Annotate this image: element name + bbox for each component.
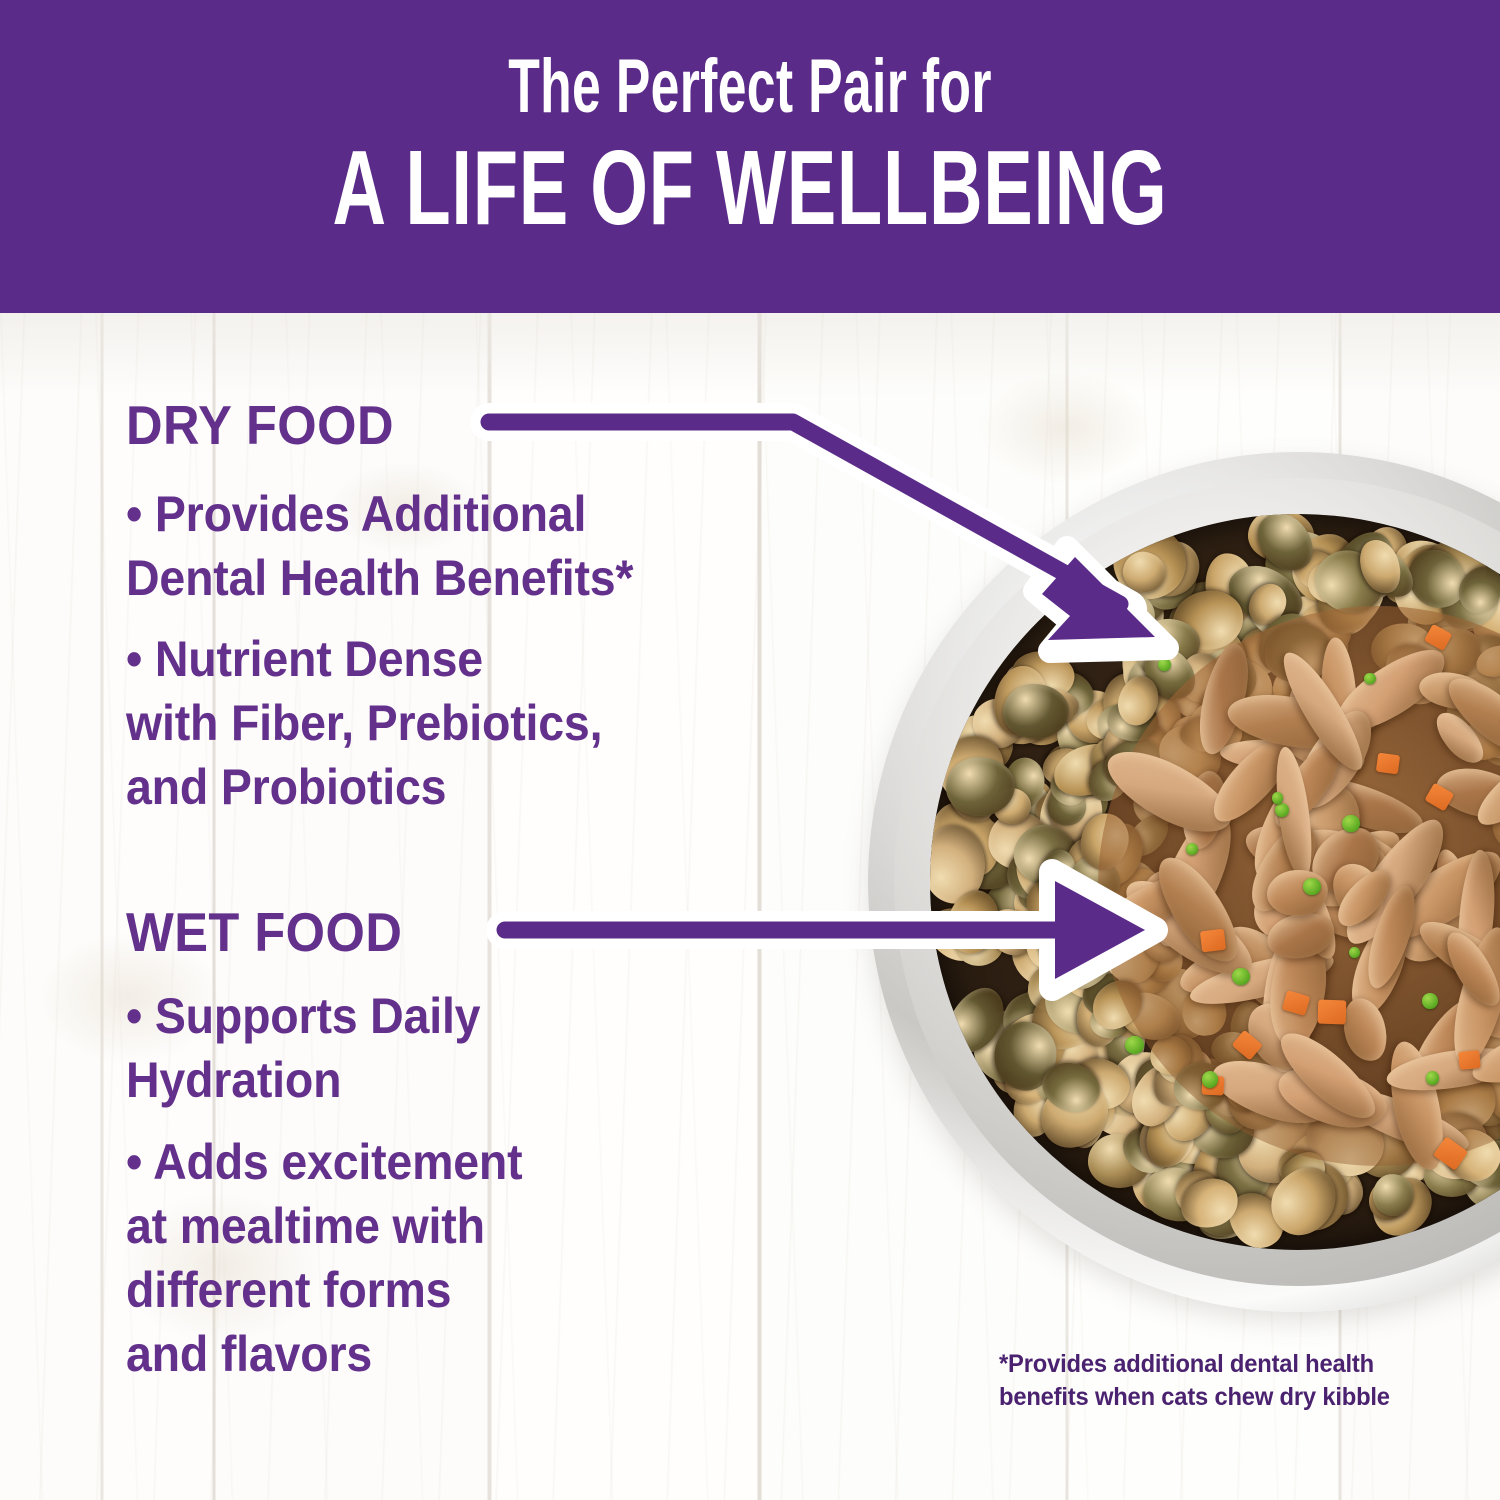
kibble-piece — [1210, 1159, 1287, 1234]
kibble-piece — [1107, 1047, 1185, 1118]
wet-food-chunk — [1202, 728, 1302, 833]
kibble-piece — [1069, 1015, 1142, 1097]
kibble-piece — [1064, 919, 1120, 961]
kibble-piece — [1340, 545, 1401, 601]
kibble-piece — [1296, 1094, 1395, 1188]
wet-food-chunk — [1279, 674, 1346, 805]
kibble-piece — [1306, 541, 1393, 623]
kibble-piece — [1190, 1176, 1253, 1239]
kibble-piece — [1476, 1082, 1500, 1160]
kibble-piece — [1006, 815, 1085, 893]
wet-food-chunk — [1257, 929, 1322, 1075]
kibble-piece — [1038, 743, 1090, 790]
pea-piece — [1186, 843, 1198, 855]
kibble-piece — [998, 655, 1048, 705]
kibble-piece — [1081, 971, 1140, 1021]
kibble-piece — [1064, 1051, 1137, 1117]
kibble-piece — [1437, 1122, 1500, 1190]
bullet-line: and Probiotics — [126, 755, 602, 819]
kibble-piece — [1469, 580, 1500, 654]
kibble-piece — [1000, 671, 1084, 756]
wet-food-chunk — [1432, 761, 1500, 823]
wet-food-chunk — [1130, 857, 1220, 944]
kibble-piece — [930, 898, 995, 970]
wet-food-chunk — [1248, 686, 1374, 787]
kibble-piece — [1189, 702, 1245, 752]
kibble-piece — [1273, 1144, 1333, 1202]
kibble-piece — [1062, 743, 1122, 805]
kibble-piece — [1273, 1103, 1361, 1180]
kibble-piece — [941, 884, 1006, 959]
carrot-piece — [1282, 990, 1310, 1016]
kibble-piece — [1075, 809, 1134, 875]
kibble-piece — [1432, 566, 1500, 640]
kibble-piece — [988, 661, 1053, 741]
kibble-piece — [1189, 639, 1266, 716]
kibble-piece — [1003, 846, 1061, 904]
kibble-piece — [1497, 1107, 1500, 1179]
kibble-piece — [1113, 670, 1164, 729]
header-eyebrow: The Perfect Pair for — [240, 46, 1260, 128]
kibble-piece — [1087, 1132, 1152, 1189]
bullet-line: Hydration — [126, 1048, 480, 1112]
kibble-piece — [1209, 655, 1277, 723]
kibble-piece — [1150, 1030, 1208, 1089]
kibble-piece — [936, 903, 998, 963]
bullet-line: • Provides Additional — [126, 482, 633, 546]
kibble-piece — [1132, 956, 1228, 1053]
kibble-piece — [1371, 1172, 1416, 1218]
kibble-piece — [1277, 590, 1338, 651]
kibble-piece — [1411, 1052, 1483, 1125]
kibble-piece — [1106, 862, 1175, 938]
kibble-piece — [1147, 1137, 1216, 1183]
footnote-line: *Provides additional dental health — [999, 1348, 1390, 1381]
wet-food-chunk — [1299, 831, 1418, 939]
kibble-piece — [1362, 1170, 1418, 1228]
kibble-piece — [1027, 915, 1080, 974]
kibble-piece — [1281, 1122, 1348, 1190]
wet-food-bullet-1: • Supports Daily Hydration — [126, 984, 480, 1112]
wet-food-chunk — [1336, 824, 1404, 874]
kibble-piece — [1248, 579, 1310, 639]
wet-food-chunk — [1293, 860, 1424, 925]
kibble-piece — [1150, 1035, 1193, 1076]
kibble-piece — [1130, 539, 1207, 619]
kibble-piece — [1057, 962, 1123, 1027]
pea-piece — [1083, 930, 1100, 947]
kibble-piece — [1258, 1154, 1348, 1247]
kibble-piece — [1471, 689, 1500, 780]
kibble-piece — [1049, 753, 1112, 806]
kibble-piece — [1233, 1033, 1292, 1092]
kibble-piece — [1217, 1182, 1293, 1250]
wet-food-chunk — [1206, 1049, 1339, 1135]
wet-food-chunk — [1143, 846, 1251, 974]
kibble-piece — [1122, 644, 1198, 709]
kibble-piece — [1191, 603, 1263, 681]
kibble-piece — [1170, 1058, 1231, 1113]
page-title: A LIFE OF WELLBEING — [225, 132, 1275, 244]
kibble-piece — [1357, 1108, 1427, 1177]
kibble-piece — [1485, 1099, 1500, 1182]
kibble-piece — [1018, 913, 1083, 979]
kibble-piece — [1353, 534, 1407, 599]
kibble-piece — [1286, 543, 1348, 599]
wet-food-chunk — [1207, 912, 1328, 1033]
kibble-piece — [982, 857, 1059, 938]
kibble-piece — [1307, 561, 1353, 605]
kibble-piece — [1129, 910, 1189, 967]
kibble-piece — [1096, 729, 1171, 799]
kibble-piece — [1025, 893, 1087, 953]
bullet-line: and flavors — [126, 1322, 522, 1386]
wet-food-chunk — [1428, 705, 1491, 771]
pea-piece — [1349, 947, 1360, 958]
kibble-piece — [1040, 667, 1080, 719]
kibble-piece — [1013, 871, 1060, 916]
kibble-piece — [1215, 1136, 1273, 1205]
kibble-piece — [1305, 1137, 1362, 1195]
carrot-piece — [1424, 782, 1454, 810]
kibble-piece — [1056, 1008, 1112, 1065]
kibble-piece — [1065, 687, 1125, 746]
wet-food-chunk — [1224, 687, 1356, 756]
kibble-piece — [1272, 669, 1308, 707]
pea-piece — [1202, 1071, 1218, 1087]
kibble-piece — [1061, 847, 1129, 913]
kibble-piece — [1313, 1164, 1369, 1221]
dry-food-bullet-1: • Provides Additional Dental Health Bene… — [126, 482, 633, 610]
kibble-piece — [1196, 684, 1243, 732]
wet-food-chunk — [1235, 991, 1322, 1081]
kibble-piece — [1039, 954, 1125, 1040]
kibble-piece — [968, 859, 1051, 949]
kibble-piece — [1276, 619, 1334, 685]
pea-piece — [1364, 673, 1375, 684]
kibble-piece — [1096, 715, 1158, 775]
kibble-piece — [1473, 640, 1500, 681]
kibble-piece — [1126, 748, 1186, 802]
kibble-piece — [992, 786, 1032, 825]
kibble-piece — [1097, 876, 1187, 970]
kibble-piece — [1143, 660, 1202, 718]
kibble-piece — [1223, 1065, 1266, 1113]
wet-food-chunk — [1327, 1077, 1475, 1164]
kibble-piece — [1493, 1101, 1500, 1172]
kibble-piece — [1122, 1057, 1190, 1134]
wet-food-chunk — [1265, 789, 1324, 881]
kibble-piece — [986, 1000, 1080, 1095]
kibble-piece — [1187, 1136, 1230, 1179]
kibble-piece — [1174, 1053, 1242, 1139]
wet-food-chunk — [1173, 916, 1327, 1008]
kibble-piece — [1009, 1044, 1101, 1137]
kibble-piece — [1147, 1154, 1205, 1220]
kibble-piece — [1016, 943, 1096, 1030]
wet-food-chunk — [1326, 636, 1457, 746]
kibble-piece — [1174, 1171, 1245, 1235]
kibble-piece — [1003, 756, 1047, 810]
kibble-piece — [1063, 1086, 1109, 1150]
kibble-piece — [946, 756, 1016, 816]
kibble-piece — [1047, 915, 1126, 999]
kibble-piece — [1116, 626, 1179, 703]
wet-food-chunk — [1294, 767, 1428, 845]
kibble-piece — [992, 980, 1069, 1055]
kibble-piece — [1434, 1069, 1478, 1116]
kibble-piece — [1046, 999, 1109, 1074]
kibble-piece — [1008, 648, 1077, 703]
kibble-piece — [1308, 1081, 1376, 1155]
wet-food-chunk — [1239, 814, 1327, 921]
kibble-piece — [1170, 615, 1256, 694]
kibble-piece — [1493, 749, 1500, 839]
wet-food-chunk — [1238, 812, 1382, 904]
wet-food-chunk — [1454, 849, 1499, 988]
kibble-piece — [987, 874, 1052, 932]
wet-food-chunk — [1096, 737, 1242, 849]
kibble-piece — [1040, 663, 1101, 722]
kibble-piece — [1101, 920, 1167, 988]
kibble-piece — [1139, 644, 1203, 710]
kibble-piece — [1428, 641, 1500, 722]
kibble-piece — [1178, 623, 1245, 695]
kibble-piece — [1230, 678, 1303, 759]
kibble-piece — [1084, 816, 1152, 893]
wet-food-chunk — [1284, 700, 1385, 819]
kibble-piece — [1303, 1140, 1357, 1193]
kibble-piece — [1043, 1031, 1114, 1107]
kibble-piece — [1233, 1110, 1318, 1189]
kibble-piece — [1143, 1038, 1223, 1117]
footnote-disclaimer: *Provides additional dental health benef… — [999, 1348, 1390, 1414]
kibble-piece — [1280, 604, 1358, 679]
kibble-piece — [1232, 681, 1271, 723]
kibble-piece — [1090, 1074, 1153, 1138]
kibble-piece — [1130, 688, 1185, 746]
kibble-piece — [1080, 751, 1137, 809]
wet-food-chunk — [1443, 922, 1500, 1071]
kibble-piece — [1202, 550, 1259, 626]
kibble-piece — [1126, 661, 1196, 729]
kibble-piece — [1132, 776, 1182, 828]
kibble-piece — [1281, 557, 1368, 639]
wet-food-chunk — [1438, 666, 1500, 766]
kibble-piece — [1166, 670, 1220, 725]
kibble-piece — [1041, 894, 1112, 966]
wet-food-chunk — [1317, 637, 1360, 763]
kibble-piece — [1100, 924, 1140, 965]
carrot-piece — [1458, 1050, 1480, 1070]
kibble-piece — [1475, 1057, 1500, 1134]
section-heading-dry-food: DRY FOOD — [126, 396, 394, 454]
kibble-piece — [1137, 650, 1189, 716]
kibble-piece — [1115, 1118, 1180, 1180]
kibble-piece — [1454, 711, 1500, 768]
kibble-piece — [1040, 1061, 1121, 1137]
kibble-piece — [1124, 1048, 1203, 1129]
kibble-piece — [930, 823, 987, 906]
kibble-piece — [1444, 692, 1500, 767]
kibble-piece — [1221, 1094, 1290, 1157]
kibble-piece — [1056, 1094, 1110, 1147]
kibble-piece — [1040, 927, 1099, 973]
kibble-piece — [1142, 1105, 1196, 1172]
kibble-piece — [1046, 772, 1107, 851]
kibble-piece — [1147, 713, 1232, 797]
kibble-piece — [1268, 1110, 1366, 1206]
kibble-piece — [1292, 599, 1356, 661]
kibble-piece — [940, 817, 1029, 896]
kibble-piece — [1424, 1155, 1480, 1197]
kibble-piece — [1375, 1117, 1448, 1194]
wet-food-bullet-2: • Adds excitement at mealtime with diffe… — [126, 1130, 522, 1386]
kibble-piece — [1386, 539, 1468, 631]
kibble-piece — [1460, 1143, 1500, 1190]
kibble-piece — [1005, 1015, 1074, 1095]
kibble-piece — [1045, 761, 1119, 836]
kibble-piece — [988, 811, 1050, 870]
kibble-piece — [1111, 714, 1175, 777]
pea-piece — [1342, 815, 1360, 833]
kibble-piece — [1062, 742, 1124, 800]
kibble-piece — [1082, 725, 1151, 794]
section-heading-wet-food: WET FOOD — [126, 903, 402, 961]
kibble-piece — [1138, 1046, 1221, 1128]
kibble-piece — [1104, 1013, 1146, 1076]
kibble-piece — [1469, 580, 1500, 663]
kibble-piece — [1100, 589, 1156, 643]
kibble-piece — [1100, 916, 1163, 986]
kibble-piece — [1018, 953, 1087, 1020]
kibble-piece — [1483, 929, 1500, 1016]
kibble-piece — [1402, 579, 1474, 663]
kibble-piece — [1260, 619, 1335, 687]
kibble-piece — [1235, 626, 1286, 679]
wet-food-chunk — [1390, 894, 1474, 972]
kibble-piece — [1413, 1103, 1498, 1188]
wet-food-chunk — [1243, 867, 1328, 950]
kibble-piece — [1465, 967, 1500, 1055]
kibble-piece — [1492, 1075, 1500, 1143]
kibble-piece — [1009, 772, 1062, 827]
carrot-piece — [1231, 1030, 1262, 1061]
wet-food-chunk — [1332, 807, 1459, 956]
kibble-piece — [941, 901, 1016, 976]
pea-piece — [1125, 1036, 1144, 1055]
wet-food-chunk — [1220, 737, 1343, 774]
kibble-piece — [1374, 633, 1455, 715]
kibble-piece — [1495, 1102, 1500, 1148]
carrot-piece — [1200, 929, 1226, 952]
food-bowl-photo — [868, 452, 1500, 1312]
kibble-piece — [1086, 697, 1129, 740]
kibble-piece — [1154, 1078, 1225, 1150]
kibble-piece — [978, 899, 1043, 964]
wet-food-chunk — [1437, 925, 1500, 1014]
kibble-piece — [1206, 1133, 1298, 1225]
kibble-piece — [1248, 604, 1323, 683]
wet-food-chunk — [1270, 745, 1318, 881]
bullet-line: at mealtime with — [126, 1194, 522, 1258]
kibble-piece — [1269, 1139, 1331, 1201]
kibble-piece — [1165, 711, 1225, 776]
kibble-piece — [1005, 1064, 1052, 1105]
kibble-piece — [1167, 1163, 1227, 1223]
kibble-piece — [1053, 730, 1121, 799]
wet-food-chunk — [1265, 867, 1330, 919]
kibble-piece — [1159, 1125, 1218, 1167]
kibble-piece — [1305, 546, 1398, 646]
kibble-piece — [1119, 548, 1169, 596]
dry-food-bullet-2: • Nutrient Dense with Fiber, Prebiotics,… — [126, 627, 602, 819]
wet-food-chunk — [1191, 639, 1257, 759]
kibble-piece — [1000, 1024, 1046, 1070]
kibble-piece — [1349, 537, 1422, 608]
wet-food-chunk — [1185, 943, 1337, 1014]
kibble-piece — [1156, 589, 1237, 675]
kibble-piece — [993, 1020, 1058, 1091]
kibble-piece — [1098, 1079, 1164, 1147]
kibble-piece — [1420, 567, 1467, 618]
kibble-piece — [1018, 971, 1113, 1063]
kibble-piece — [1034, 846, 1081, 904]
kibble-piece — [1026, 1039, 1100, 1115]
kibble-piece — [1037, 680, 1084, 722]
kibble-piece — [1089, 1062, 1173, 1147]
kibble-piece — [1270, 1116, 1356, 1196]
pea-piece — [1158, 658, 1171, 671]
kibble-piece — [1050, 709, 1105, 770]
kibble-piece — [1119, 626, 1167, 691]
pea-piece — [1426, 1071, 1440, 1085]
kibble-piece — [1443, 671, 1500, 754]
kibble-piece — [1209, 1029, 1254, 1067]
kibble-piece — [1444, 661, 1500, 725]
kibble-piece — [1293, 1148, 1352, 1216]
kibble-piece — [1396, 1082, 1465, 1149]
kibble-piece — [1072, 981, 1121, 1030]
kibble-piece — [1311, 1157, 1372, 1219]
kibble-piece — [1008, 870, 1076, 935]
wet-food-chunk — [1329, 862, 1399, 935]
wet-food-chunk — [1411, 910, 1500, 1005]
kibble-piece — [1028, 1066, 1122, 1161]
wet-food-chunk — [1466, 1006, 1500, 1095]
kibble-piece — [1220, 1168, 1267, 1228]
wet-food-chunk — [1372, 836, 1500, 954]
kibble-piece — [1168, 585, 1249, 656]
kibble-piece — [1426, 1062, 1500, 1139]
pea-piece — [1303, 878, 1321, 896]
kibble-piece — [1280, 522, 1369, 613]
kibble-piece — [1409, 619, 1488, 687]
carrot-piece — [1423, 624, 1452, 652]
kibble-piece — [1054, 931, 1126, 1004]
kibble-piece — [1184, 1130, 1246, 1202]
wet-food-chunk — [1399, 990, 1493, 1102]
kibble-piece — [1320, 521, 1406, 612]
kibble-piece — [1465, 1094, 1500, 1127]
kibble-piece — [1405, 1115, 1471, 1187]
kibble-piece — [1047, 735, 1134, 805]
carrot-piece — [1376, 752, 1400, 774]
bullet-line: Dental Health Benefits* — [126, 546, 633, 610]
footnote-line: benefits when cats chew dry kibble — [999, 1381, 1390, 1414]
wet-food-chunk — [1429, 846, 1479, 934]
kibble-piece — [1384, 644, 1442, 706]
